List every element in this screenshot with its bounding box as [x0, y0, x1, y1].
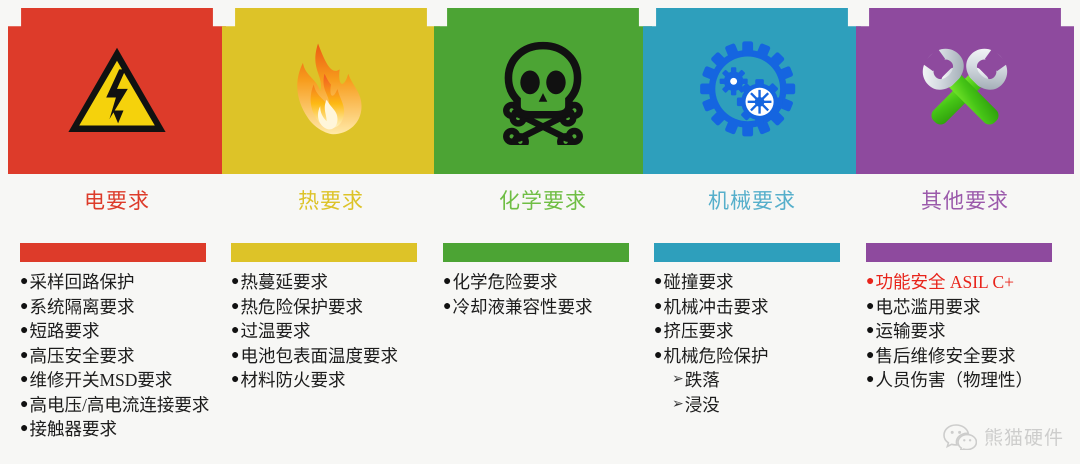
requirement-item-label: 短路要求 — [29, 319, 99, 344]
bullet-icon: ● — [654, 270, 662, 295]
requirement-item: ●系统隔离要求 — [20, 295, 235, 320]
category-title-thermal: 热要求 — [222, 186, 440, 216]
skull-and-crossbones-icon — [489, 37, 597, 145]
bullet-icon: ● — [866, 319, 874, 344]
bullet-icon: ● — [20, 295, 28, 320]
requirement-item-label: 售后维修安全要求 — [875, 344, 1015, 369]
requirement-item-label: 维修开关MSD要求 — [29, 368, 172, 393]
bullet-icon: ● — [443, 270, 451, 295]
requirement-item: ●采样回路保护 — [20, 270, 235, 295]
requirement-item: ●运输要求 — [866, 319, 1080, 344]
requirement-item-label: 机械冲击要求 — [663, 295, 768, 320]
high-voltage-warning-icon — [63, 37, 171, 145]
slide-canvas: 电要求 热要求 化学要求 机械要求 其他要求 ●采样回路保护●系统隔离要求●短路… — [0, 0, 1080, 464]
requirement-item: ●人员伤害（物理性） — [866, 368, 1080, 393]
requirement-item-label: 功能安全 ASIL C+ — [875, 270, 1014, 295]
requirement-item-label: 化学危险要求 — [452, 270, 557, 295]
requirement-item: ●售后维修安全要求 — [866, 344, 1080, 369]
category-title-mechanical: 机械要求 — [643, 186, 861, 216]
chevron-panel-mechanical[interactable] — [643, 8, 861, 174]
category-color-bar-row — [0, 243, 1080, 263]
requirement-item: ●功能安全 ASIL C+ — [866, 270, 1080, 295]
requirement-item-label: 高压安全要求 — [29, 344, 134, 369]
crossed-wrenches-icon — [911, 37, 1019, 145]
requirement-item-label: 碰撞要求 — [663, 270, 733, 295]
panel-icon-area — [434, 8, 652, 174]
bullet-icon: ● — [866, 295, 874, 320]
requirement-list-electrical: ●采样回路保护●系统隔离要求●短路要求●高压安全要求●维修开关MSD要求●高电压… — [20, 270, 235, 442]
color-bar-mechanical — [654, 243, 840, 262]
requirement-item: ●高电压/高电流连接要求 — [20, 393, 235, 418]
chevron-panel-other[interactable] — [856, 8, 1074, 174]
color-bar-other — [866, 243, 1052, 262]
chevron-panel-row — [0, 0, 1080, 182]
bullet-icon: ● — [20, 417, 28, 442]
chevron-panel-thermal[interactable] — [222, 8, 440, 174]
requirement-item-label: 浸没 — [685, 393, 720, 418]
requirement-item: ●化学危险要求 — [443, 270, 658, 295]
requirement-item-label: 电池包表面温度要求 — [240, 344, 398, 369]
bullet-icon: ● — [231, 344, 239, 369]
bullet-icon: ● — [20, 368, 28, 393]
requirement-item-label: 跌落 — [685, 368, 720, 393]
requirement-item-label: 接触器要求 — [29, 417, 117, 442]
requirement-item-label: 材料防火要求 — [240, 368, 345, 393]
bullet-icon: ● — [866, 344, 874, 369]
watermark-text: 熊猫硬件 — [984, 423, 1064, 450]
requirement-item-label: 系统隔离要求 — [29, 295, 134, 320]
panel-icon-area — [222, 8, 440, 174]
gears-icon — [698, 37, 806, 145]
panel-icon-area — [643, 8, 861, 174]
bullet-icon: ● — [443, 295, 451, 320]
requirement-item-label: 采样回路保护 — [29, 270, 134, 295]
bullet-icon: ● — [20, 319, 28, 344]
requirement-item: ●高压安全要求 — [20, 344, 235, 369]
bullet-icon: ● — [231, 319, 239, 344]
color-bar-electrical — [20, 243, 206, 262]
sub-bullet-icon: ➢ — [672, 393, 684, 418]
bullet-icon: ● — [866, 270, 874, 295]
requirement-item-label: 热蔓延要求 — [240, 270, 328, 295]
requirement-item-label: 过温要求 — [240, 319, 310, 344]
requirement-item: ●维修开关MSD要求 — [20, 368, 235, 393]
wechat-icon — [943, 424, 977, 450]
requirement-list-chemical: ●化学危险要求●冷却液兼容性要求 — [443, 270, 658, 319]
category-title-row: 电要求 热要求 化学要求 机械要求 其他要求 — [0, 186, 1080, 222]
requirement-list-thermal: ●热蔓延要求●热危险保护要求●过温要求●电池包表面温度要求●材料防火要求 — [231, 270, 446, 393]
bullet-icon: ● — [231, 270, 239, 295]
requirement-item: ●机械冲击要求 — [654, 295, 869, 320]
requirement-item: ●碰撞要求 — [654, 270, 869, 295]
requirement-item: ●材料防火要求 — [231, 368, 446, 393]
panel-icon-area — [856, 8, 1074, 174]
bullet-icon: ● — [866, 368, 874, 393]
requirement-item-label: 运输要求 — [875, 319, 945, 344]
bullet-icon: ● — [654, 319, 662, 344]
requirement-item: ●机械危险保护 — [654, 344, 869, 369]
requirement-item: ➢跌落 — [654, 368, 869, 393]
bullet-icon: ● — [231, 295, 239, 320]
watermark: 熊猫硬件 — [943, 423, 1064, 450]
requirement-item-label: 冷却液兼容性要求 — [452, 295, 592, 320]
requirement-item: ●接触器要求 — [20, 417, 235, 442]
color-bar-chemical — [443, 243, 629, 262]
bullet-icon: ● — [20, 344, 28, 369]
requirement-item: ●短路要求 — [20, 319, 235, 344]
requirement-item-label: 电芯滥用要求 — [875, 295, 980, 320]
requirement-list-other: ●功能安全 ASIL C+●电芯滥用要求●运输要求●售后维修安全要求●人员伤害（… — [866, 270, 1080, 393]
flame-icon — [277, 37, 385, 145]
requirement-item-label: 高电压/高电流连接要求 — [29, 393, 209, 418]
requirement-item-label: 热危险保护要求 — [240, 295, 363, 320]
chevron-panel-chemical[interactable] — [434, 8, 652, 174]
bullet-icon: ● — [20, 393, 28, 418]
requirement-item-label: 机械危险保护 — [663, 344, 768, 369]
bullet-icon: ● — [654, 295, 662, 320]
requirement-item: ●电池包表面温度要求 — [231, 344, 446, 369]
requirement-item: ●冷却液兼容性要求 — [443, 295, 658, 320]
chevron-panel-electrical[interactable] — [8, 8, 226, 174]
bullet-icon: ● — [20, 270, 28, 295]
requirement-item: ●挤压要求 — [654, 319, 869, 344]
requirement-item: ●电芯滥用要求 — [866, 295, 1080, 320]
sub-bullet-icon: ➢ — [672, 368, 684, 393]
requirement-item: ●过温要求 — [231, 319, 446, 344]
requirement-item-label: 人员伤害（物理性） — [875, 368, 1033, 393]
requirement-item: ➢浸没 — [654, 393, 869, 418]
requirement-list-mechanical: ●碰撞要求●机械冲击要求●挤压要求●机械危险保护➢跌落➢浸没 — [654, 270, 869, 417]
requirement-item: ●热危险保护要求 — [231, 295, 446, 320]
category-title-electrical: 电要求 — [8, 186, 226, 216]
panel-icon-area — [8, 8, 226, 174]
category-title-other: 其他要求 — [856, 186, 1074, 216]
bullet-icon: ● — [654, 344, 662, 369]
color-bar-thermal — [231, 243, 417, 262]
requirement-list-row: ●采样回路保护●系统隔离要求●短路要求●高压安全要求●维修开关MSD要求●高电压… — [0, 270, 1080, 460]
requirement-item-label: 挤压要求 — [663, 319, 733, 344]
requirement-item: ●热蔓延要求 — [231, 270, 446, 295]
bullet-icon: ● — [231, 368, 239, 393]
category-title-chemical: 化学要求 — [434, 186, 652, 216]
